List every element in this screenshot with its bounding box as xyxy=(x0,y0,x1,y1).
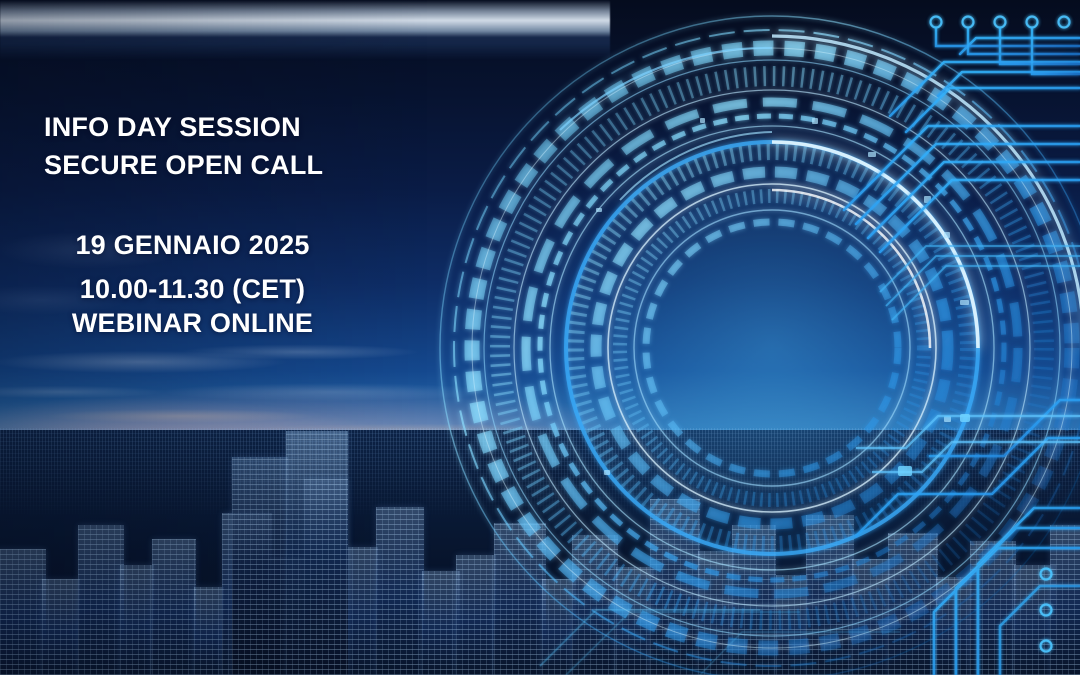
event-banner: INFO DAY SESSION SECURE OPEN CALL 19 GEN… xyxy=(0,0,1080,675)
text-scrim xyxy=(0,0,430,675)
